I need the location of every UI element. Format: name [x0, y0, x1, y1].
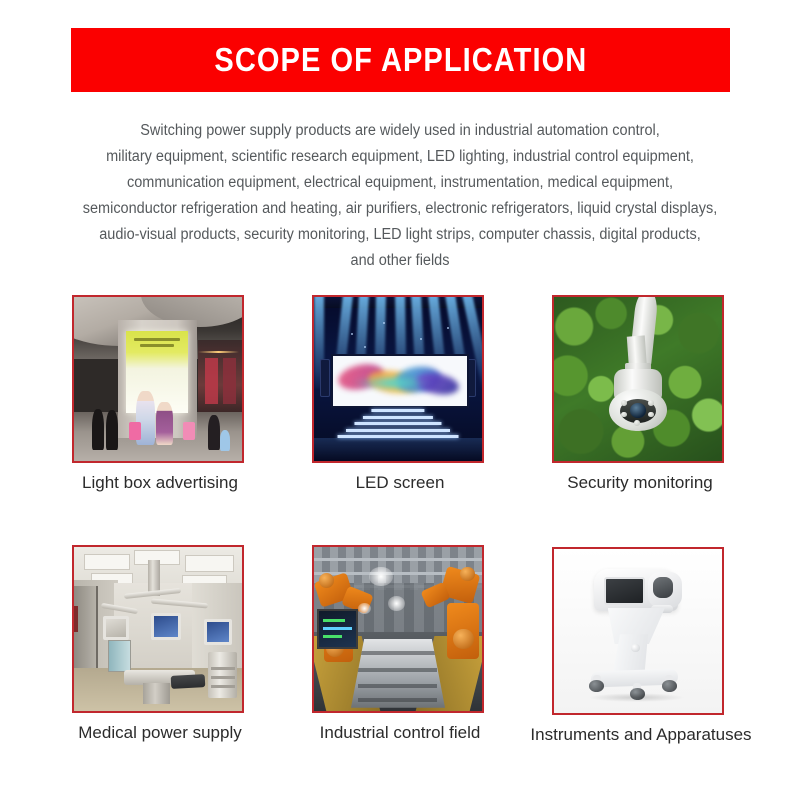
intro-paragraph: Switching power supply products are wide… — [30, 118, 770, 274]
intro-line-3: communication equipment, electrical equi… — [52, 170, 748, 196]
operating-room-photo — [74, 547, 242, 711]
gallery-item-instruments-and-apparatuses[interactable]: Instruments and Apparatuses — [552, 547, 728, 745]
gallery-item-led-screen[interactable]: LED screen — [312, 295, 488, 493]
instruments-and-apparatuses-thumbnail — [552, 547, 724, 715]
medical-power-supply-thumbnail — [72, 545, 244, 713]
ptz-security-camera-photo — [554, 297, 722, 461]
security-monitoring-thumbnail — [552, 295, 724, 463]
application-gallery: Light box advertising — [0, 295, 800, 795]
intro-line-6: and other fields — [52, 248, 748, 274]
gallery-item-light-box-advertising[interactable]: Light box advertising — [72, 295, 248, 493]
gallery-item-industrial-control-field[interactable]: Industrial control field — [312, 545, 488, 743]
gallery-row: Medical power supply — [0, 545, 800, 795]
gallery-item-caption: Industrial control field — [312, 723, 488, 743]
medical-instrument-cart-photo — [554, 549, 722, 713]
section-header-banner: SCOPE OF APPLICATION — [71, 28, 730, 92]
page-title: SCOPE OF APPLICATION — [214, 41, 587, 79]
mall-lightbox-photo — [74, 297, 242, 461]
scope-of-application-page: SCOPE OF APPLICATION Switching power sup… — [0, 0, 800, 800]
gallery-item-caption: Instruments and Apparatuses — [516, 725, 766, 745]
intro-line-1: Switching power supply products are wide… — [52, 118, 748, 144]
gallery-item-caption: Medical power supply — [72, 723, 248, 743]
intro-line-5: audio-visual products, security monitori… — [52, 222, 748, 248]
gallery-row: Light box advertising — [0, 295, 800, 545]
gallery-item-caption: LED screen — [312, 473, 488, 493]
gallery-item-security-monitoring[interactable]: Security monitoring — [552, 295, 728, 493]
intro-line-4: semiconductor refrigeration and heating,… — [52, 196, 748, 222]
light-box-advertising-thumbnail — [72, 295, 244, 463]
gallery-item-medical-power-supply[interactable]: Medical power supply — [72, 545, 248, 743]
gallery-item-caption: Security monitoring — [552, 473, 728, 493]
gallery-item-caption: Light box advertising — [72, 473, 248, 493]
led-stage-screen-photo — [314, 297, 482, 461]
led-screen-thumbnail — [312, 295, 484, 463]
industrial-control-field-thumbnail — [312, 545, 484, 713]
intro-line-2: military equipment, scientific research … — [52, 144, 748, 170]
robot-assembly-line-photo — [314, 547, 482, 711]
